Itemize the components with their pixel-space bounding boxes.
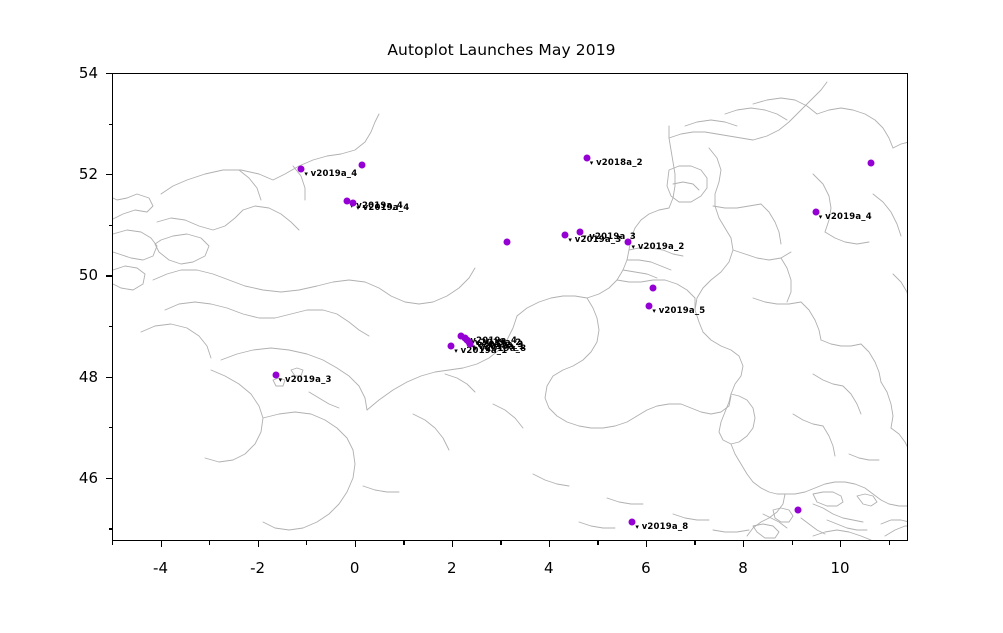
x-tick-mark: [355, 541, 356, 547]
x-tick-mark: [840, 541, 841, 547]
x-tick-minor: [500, 541, 501, 545]
x-tick-mark: [549, 541, 550, 547]
x-tick-label: 0: [350, 559, 360, 577]
y-tick-mark: [106, 73, 112, 74]
scatter-point-label: v2019a_4: [304, 169, 357, 179]
scatter-point-label: v2018a_2: [590, 158, 643, 168]
x-tick-minor: [112, 541, 113, 545]
x-tick-mark: [258, 541, 259, 547]
x-tick-label: 8: [738, 559, 748, 577]
x-tick-label: 10: [831, 559, 850, 577]
x-tick-label: 6: [641, 559, 651, 577]
y-tick-minor: [109, 528, 113, 529]
scatter-point-label: v2019a_2: [631, 242, 684, 252]
scatter-point-label: v2019a_8: [635, 522, 688, 532]
scatter-point[interactable]: [649, 284, 656, 291]
x-tick-mark: [646, 541, 647, 547]
x-tick-minor: [597, 541, 598, 545]
y-tick-minor: [109, 225, 113, 226]
y-tick-label: 54: [79, 64, 98, 82]
x-tick-minor: [403, 541, 404, 545]
x-tick-mark: [161, 541, 162, 547]
x-tick-label: -4: [153, 559, 168, 577]
x-tick-minor: [306, 541, 307, 545]
figure-canvas: Autoplot Launches May 2019: [0, 0, 1003, 633]
y-tick-mark: [106, 377, 112, 378]
y-tick-mark: [106, 174, 112, 175]
y-tick-label: 48: [79, 368, 98, 386]
y-tick-label: 52: [79, 165, 98, 183]
scatter-point-label: v2019a_4: [819, 212, 872, 222]
scatter-point-label: v2019a_4: [356, 203, 409, 213]
y-tick-minor: [109, 326, 113, 327]
x-tick-minor: [694, 541, 695, 545]
x-tick-mark: [452, 541, 453, 547]
x-tick-label: -2: [250, 559, 265, 577]
scatter-point-label: v2019a_5: [652, 306, 705, 316]
x-tick-minor: [889, 541, 890, 545]
scatter-point-label: v2019a_3: [279, 375, 332, 385]
page-title: Autoplot Launches May 2019: [0, 41, 1003, 59]
y-tick-label: 50: [79, 266, 98, 284]
map-plot-area[interactable]: v2019a_4v2019a_4v2019a_4v2019a_3v2019a_1…: [112, 73, 908, 541]
scatter-point[interactable]: [868, 159, 875, 166]
x-tick-label: 4: [544, 559, 554, 577]
data-points-layer: v2019a_4v2019a_4v2019a_4v2019a_3v2019a_1…: [113, 74, 908, 541]
y-tick-minor: [109, 124, 113, 125]
y-tick-label: 46: [79, 469, 98, 487]
scatter-point-label: v2019a_8: [473, 344, 526, 354]
x-tick-label: 2: [447, 559, 457, 577]
y-tick-mark: [106, 275, 112, 276]
x-tick-mark: [743, 541, 744, 547]
x-tick-minor: [792, 541, 793, 545]
y-tick-minor: [109, 427, 113, 428]
scatter-point[interactable]: [795, 507, 802, 514]
scatter-point[interactable]: [358, 162, 365, 169]
scatter-point[interactable]: [504, 239, 511, 246]
x-tick-minor: [209, 541, 210, 545]
y-tick-mark: [106, 478, 112, 479]
